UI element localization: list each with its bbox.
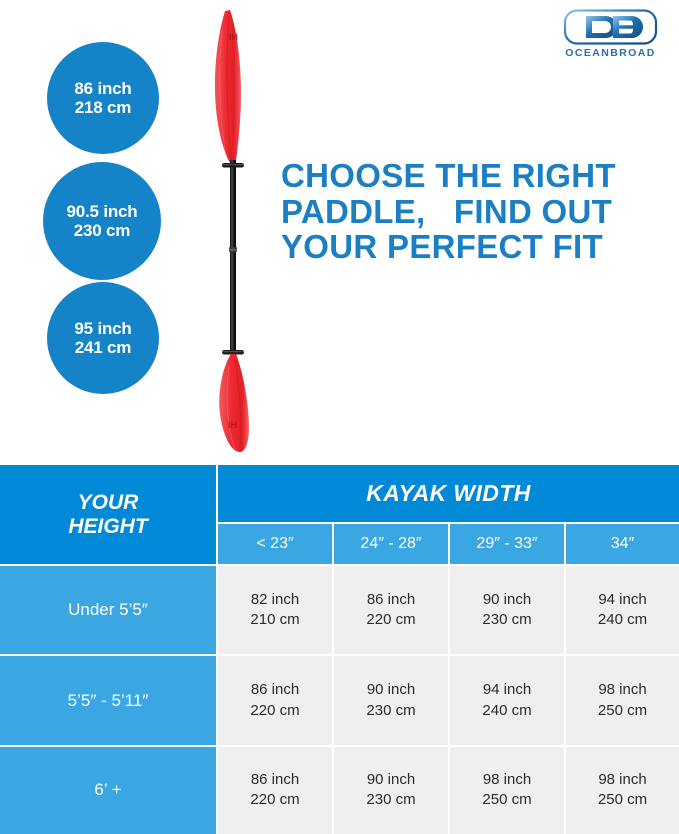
headline-line-2: PADDLE, FIND OUT <box>281 194 661 230</box>
row-label-height: Under 5’5″ <box>0 565 217 655</box>
cell-cm: 230 cm <box>334 790 448 811</box>
header-width-col-2: 24″ - 28″ <box>333 523 449 565</box>
brand-wordmark: OCEANBROAD <box>558 47 663 59</box>
size-circle-86in: 86 inch 218 cm <box>47 42 159 154</box>
size-circle-inch: 86 inch <box>74 79 131 98</box>
cell-cm: 250 cm <box>450 790 564 811</box>
table-cell: 98 inch 250 cm <box>449 746 565 834</box>
cell-cm: 230 cm <box>450 610 564 631</box>
table-header-row-group: YOUR HEIGHT KAYAK WIDTH <box>0 465 679 523</box>
kayak-paddle-illustration: IH IH <box>185 0 290 460</box>
size-circle-inch: 95 inch <box>74 319 131 338</box>
table-cell: 90 inch 230 cm <box>449 565 565 655</box>
oceanbroad-ob-monogram-icon <box>558 8 663 46</box>
table-cell: 98 inch 250 cm <box>565 655 679 745</box>
cell-inch: 90 inch <box>450 590 564 611</box>
header-your-height-line2: HEIGHT <box>0 515 216 539</box>
brand-logo: OCEANBROAD <box>558 8 663 66</box>
table-row: Under 5’5″ 82 inch 210 cm 86 inch 220 cm… <box>0 565 679 655</box>
table-cell: 98 inch 250 cm <box>565 746 679 834</box>
table-cell: 90 inch 230 cm <box>333 655 449 745</box>
table-cell: 94 inch 240 cm <box>565 565 679 655</box>
cell-cm: 250 cm <box>566 790 679 811</box>
table-cell: 90 inch 230 cm <box>333 746 449 834</box>
cell-cm: 220 cm <box>218 790 332 811</box>
cell-inch: 82 inch <box>218 590 332 611</box>
cell-inch: 86 inch <box>218 680 332 701</box>
svg-text:IH: IH <box>229 32 238 42</box>
headline-line-1: CHOOSE THE RIGHT <box>281 158 661 194</box>
table-cell: 82 inch 210 cm <box>217 565 333 655</box>
cell-inch: 86 inch <box>218 770 332 791</box>
cell-cm: 250 cm <box>566 701 679 722</box>
cell-cm: 240 cm <box>450 701 564 722</box>
table-row: 6’ + 86 inch 220 cm 90 inch 230 cm 98 in… <box>0 746 679 834</box>
size-circle-cm: 241 cm <box>75 338 131 357</box>
cell-inch: 98 inch <box>566 680 679 701</box>
table-cell: 86 inch 220 cm <box>217 655 333 745</box>
cell-inch: 94 inch <box>566 590 679 611</box>
header-width-col-3: 29″ - 33″ <box>449 523 565 565</box>
paddle-size-table: YOUR HEIGHT KAYAK WIDTH < 23″ 24″ - 28″ … <box>0 465 679 834</box>
cell-inch: 90 inch <box>334 680 448 701</box>
table-cell: 94 inch 240 cm <box>449 655 565 745</box>
table-cell: 86 inch 220 cm <box>217 746 333 834</box>
cell-cm: 220 cm <box>334 610 448 631</box>
cell-inch: 86 inch <box>334 590 448 611</box>
table-cell: 86 inch 220 cm <box>333 565 449 655</box>
size-circle-95in: 95 inch 241 cm <box>47 282 159 394</box>
cell-cm: 210 cm <box>218 610 332 631</box>
cell-inch: 94 inch <box>450 680 564 701</box>
cell-cm: 240 cm <box>566 610 679 631</box>
cell-cm: 230 cm <box>334 701 448 722</box>
table-row: 5’5″ - 5’11″ 86 inch 220 cm 90 inch 230 … <box>0 655 679 745</box>
header-kayak-width: KAYAK WIDTH <box>217 465 679 523</box>
header-your-height-line1: YOUR <box>0 491 216 515</box>
page-title: CHOOSE THE RIGHT PADDLE, FIND OUT YOUR P… <box>281 158 661 265</box>
size-circle-cm: 218 cm <box>75 98 131 117</box>
size-circle-cm: 230 cm <box>74 221 130 240</box>
header-width-col-4: 34″ <box>565 523 679 565</box>
row-label-height: 6’ + <box>0 746 217 834</box>
size-circle-inch: 90.5 inch <box>67 202 138 221</box>
kayak-paddle-icon: IH IH <box>185 0 290 460</box>
cell-inch: 98 inch <box>450 770 564 791</box>
cell-inch: 98 inch <box>566 770 679 791</box>
header-your-height: YOUR HEIGHT <box>0 465 217 565</box>
svg-text:IH: IH <box>228 420 237 430</box>
cell-inch: 90 inch <box>334 770 448 791</box>
header-width-col-1: < 23″ <box>217 523 333 565</box>
size-circle-90in: 90.5 inch 230 cm <box>43 162 161 280</box>
headline-line-3: YOUR PERFECT FIT <box>281 229 661 265</box>
cell-cm: 220 cm <box>218 701 332 722</box>
hero-panel: 86 inch 218 cm 90.5 inch 230 cm 95 inch … <box>0 0 679 465</box>
row-label-height: 5’5″ - 5’11″ <box>0 655 217 745</box>
